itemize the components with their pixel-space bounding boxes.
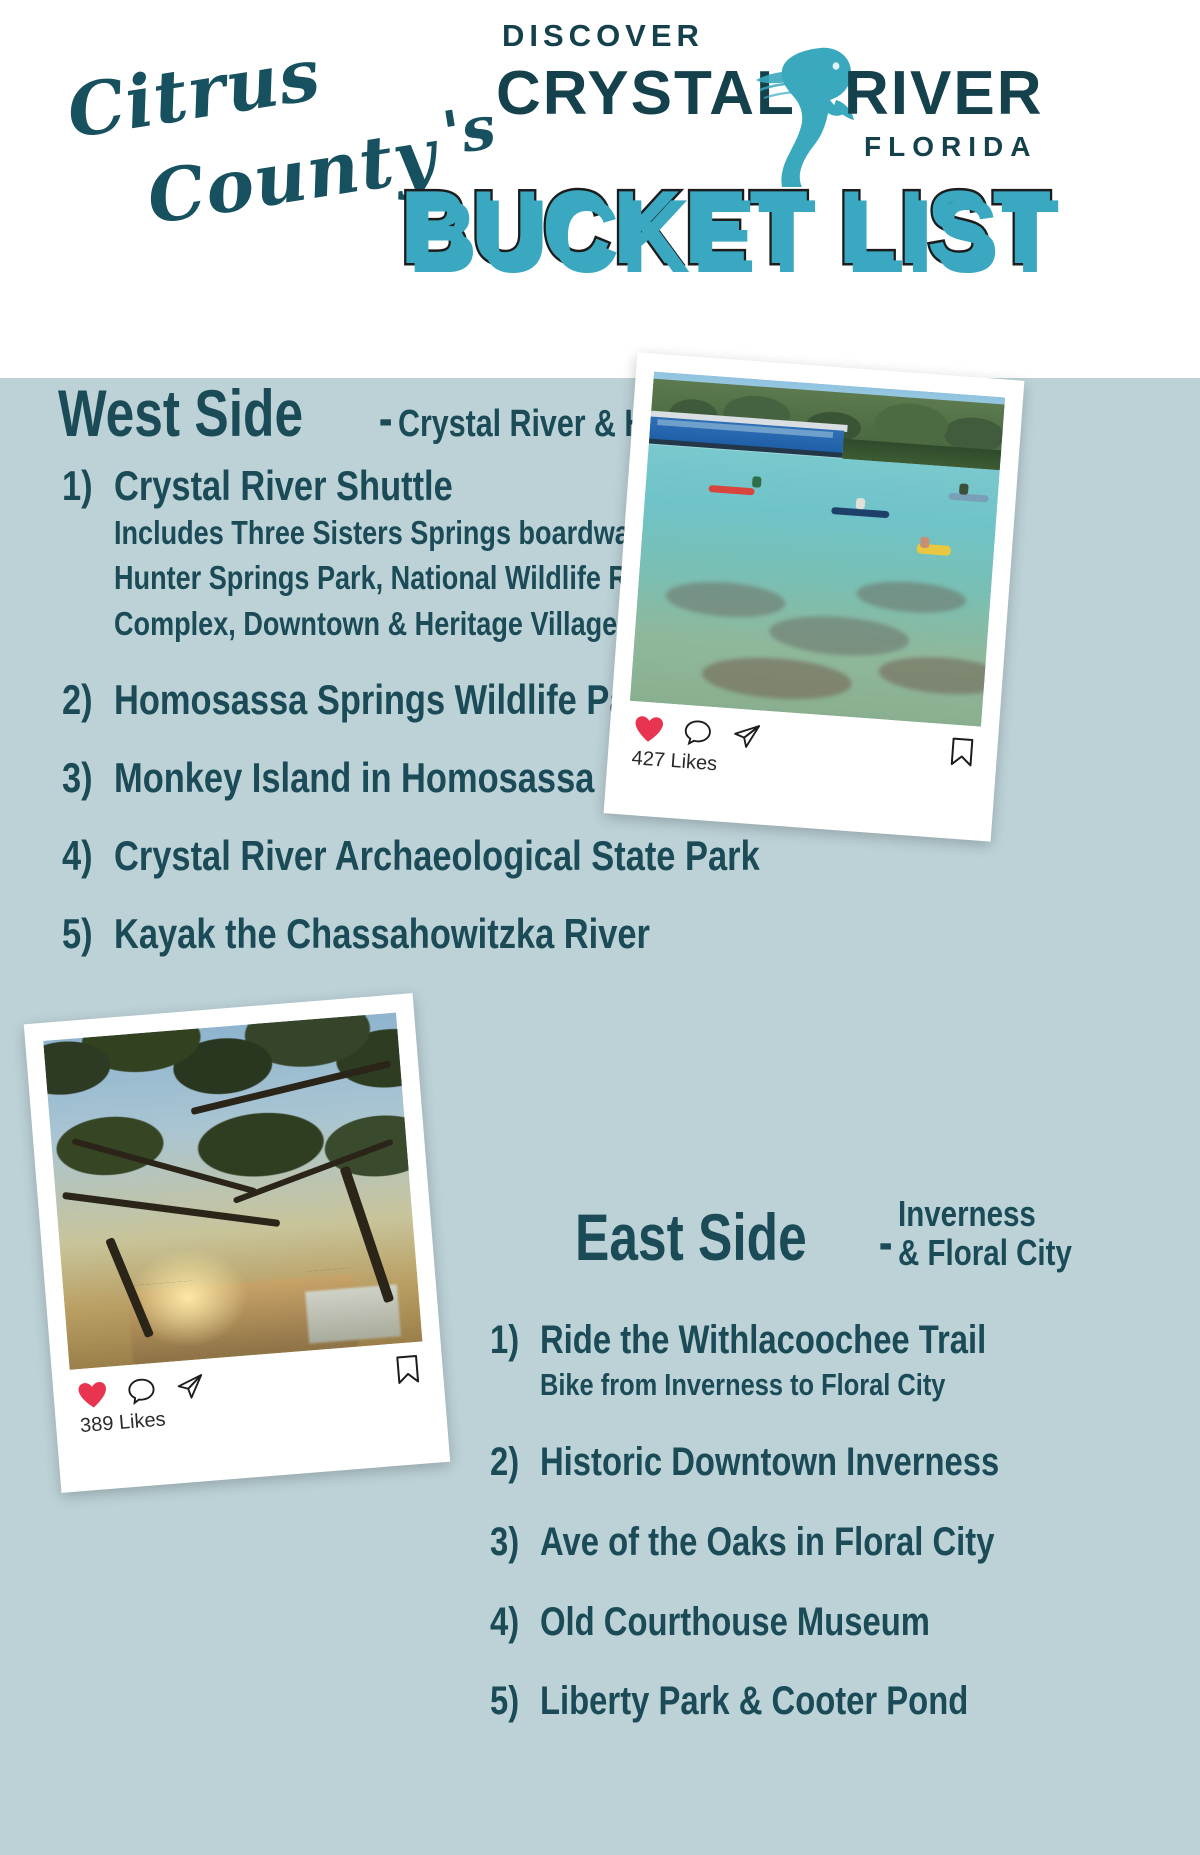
east-side-heading-main: East Side [575, 1204, 807, 1270]
list-item-number: 3) [62, 754, 105, 802]
list-item-number: 5) [490, 1679, 531, 1725]
list-item-label: Monkey Island in Homosassa [114, 754, 594, 802]
list-item[interactable]: 2) Historic Downtown Inverness [490, 1440, 1100, 1486]
west-photo-card[interactable]: 427 Likes [604, 352, 1025, 841]
west-side-heading-main: West Side [58, 380, 303, 446]
list-item[interactable]: 5) Kayak the Chassahowitzka River [62, 910, 901, 958]
list-item-label: Historic Downtown Inverness [540, 1440, 999, 1486]
east-side-list: 1) Ride the Withlacoochee Trail Bike fro… [490, 1318, 1100, 1731]
list-item-label: Old Courthouse Museum [540, 1600, 930, 1646]
list-item[interactable]: 5) Liberty Park & Cooter Pond [490, 1679, 1100, 1725]
list-item-number: 2) [62, 676, 105, 724]
heart-icon[interactable] [633, 714, 665, 744]
list-item-label: Kayak the Chassahowitzka River [114, 910, 650, 958]
east-side-heading-sub-line2: & Floral City [898, 1234, 1072, 1273]
bookmark-icon[interactable] [394, 1354, 422, 1386]
list-item-number: 4) [490, 1600, 531, 1646]
list-item-number: 2) [490, 1440, 531, 1486]
list-item[interactable]: 1) Ride the Withlacoochee Trail Bike fro… [490, 1318, 1100, 1406]
bookmark-icon[interactable] [948, 736, 976, 768]
east-side-heading: East Side - Inverness & Floral City [575, 1195, 1110, 1273]
oak-canopy-photo-illustration [43, 1013, 422, 1370]
heart-icon[interactable] [77, 1380, 109, 1410]
list-item-label: Crystal River Shuttle [114, 462, 453, 510]
list-item-label: Ride the Withlacoochee Trail [540, 1318, 986, 1364]
west-photo [630, 372, 1005, 727]
list-item-number: 1) [62, 462, 105, 510]
list-item-subline: Bike from Inverness to Floral City [540, 1364, 999, 1407]
share-icon[interactable] [731, 721, 763, 751]
list-item-label: Liberty Park & Cooter Pond [540, 1679, 968, 1725]
list-item-label: Homosassa Springs Wildlife Park [114, 676, 661, 724]
east-photo-card[interactable]: 389 Likes [24, 993, 450, 1493]
discover-crystal-river-logo: DISCOVER CRYSTAL RIVER FLORIDA [492, 18, 1112, 166]
poster-header: Citrus County 's DISCOVER CRYSTAL RIVER … [0, 0, 1200, 378]
logo-discover-text: DISCOVER [502, 18, 704, 54]
list-item[interactable]: 4) Old Courthouse Museum [490, 1600, 1100, 1646]
east-side-heading-dash: - [878, 1213, 892, 1273]
page-title: BUCKET LIST [400, 176, 1053, 280]
east-side-heading-sub: Inverness & Floral City [898, 1195, 1072, 1273]
list-item-number: 5) [62, 910, 105, 958]
west-side-heading-dash: - [378, 389, 392, 449]
comment-icon[interactable] [126, 1376, 156, 1406]
list-item-number: 4) [62, 832, 105, 880]
share-icon[interactable] [174, 1372, 206, 1402]
list-item[interactable]: 3) Ave of the Oaks in Floral City [490, 1520, 1100, 1566]
list-item[interactable]: 4) Crystal River Archaeological State Pa… [62, 832, 901, 880]
list-item-label: Ave of the Oaks in Floral City [540, 1520, 994, 1566]
logo-florida-text: FLORIDA [864, 131, 1037, 163]
script-title-apostrophe: 's [438, 92, 500, 169]
list-item-label: Crystal River Archaeological State Park [114, 832, 760, 880]
list-item-number: 1) [490, 1318, 531, 1364]
east-photo [43, 1013, 422, 1370]
comment-icon[interactable] [683, 718, 713, 748]
river-photo-illustration [630, 372, 1005, 727]
logo-river-text: RIVER [844, 63, 1043, 125]
list-item-number: 3) [490, 1520, 531, 1566]
east-side-heading-sub-line1: Inverness [898, 1195, 1072, 1234]
